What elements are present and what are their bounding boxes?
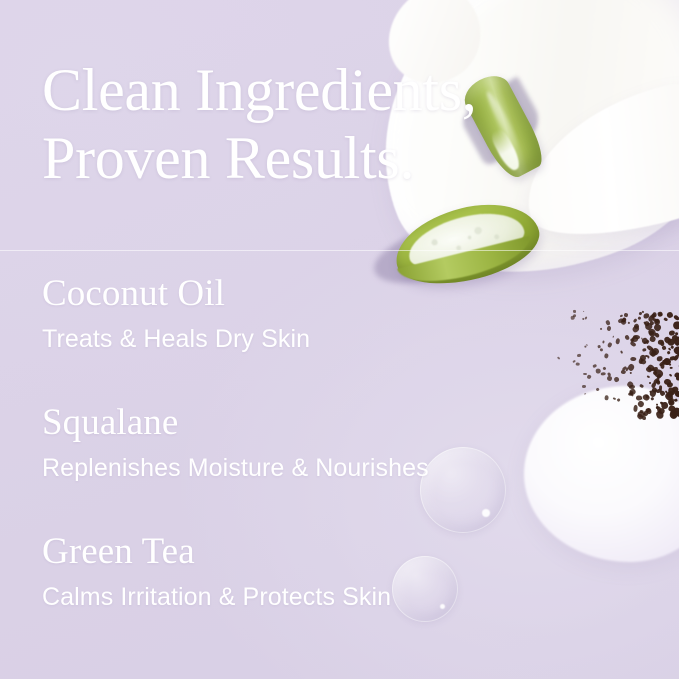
ingredient-list: Coconut Oil Treats & Heals Dry Skin Squa… [42, 272, 602, 613]
content-layer: Clean Ingredients, Proven Results. Cocon… [0, 0, 679, 679]
ingredient-description-green-tea: Calms Irritation & Protects Skin [42, 581, 602, 613]
headline-line-2: Proven Results. [42, 124, 512, 192]
headline-line-1: Clean Ingredients, [42, 56, 512, 124]
page-title: Clean Ingredients, Proven Results. [42, 56, 512, 192]
list-item: Squalane Replenishes Moisture & Nourishe… [42, 401, 602, 484]
list-item: Green Tea Calms Irritation & Protects Sk… [42, 530, 602, 613]
ingredient-promo-graphic: Clean Ingredients, Proven Results. Cocon… [0, 0, 679, 679]
list-item: Coconut Oil Treats & Heals Dry Skin [42, 272, 602, 355]
ingredient-name-squalane: Squalane [42, 401, 602, 445]
ingredient-name-green-tea: Green Tea [42, 530, 602, 574]
ingredient-description-coconut-oil: Treats & Heals Dry Skin [42, 323, 602, 355]
ingredient-name-coconut-oil: Coconut Oil [42, 272, 602, 316]
ingredient-description-squalane: Replenishes Moisture & Nourishes [42, 452, 602, 484]
